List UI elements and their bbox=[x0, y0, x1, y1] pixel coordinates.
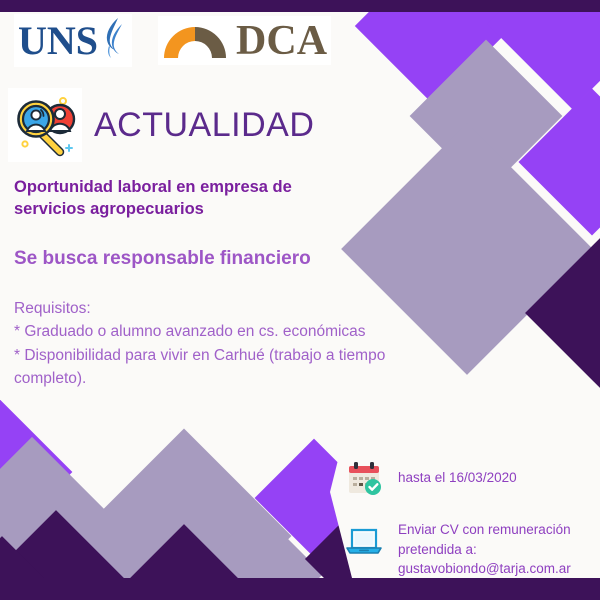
requirements-label: Requisitos: bbox=[14, 297, 444, 320]
poster-canvas: UNS DCA bbox=[0, 0, 600, 600]
decor-square-bright-2 bbox=[487, 0, 600, 109]
headline-line-1: Oportunidad laboral en empresa de bbox=[14, 178, 292, 196]
decor-square-dark-1 bbox=[525, 221, 600, 405]
requirements-block: Requisitos: * Graduado o alumno avanzado… bbox=[14, 297, 444, 390]
uns-logo-text: UNS bbox=[18, 21, 98, 61]
laptop-icon bbox=[344, 520, 384, 560]
calendar-check-icon bbox=[344, 458, 384, 498]
email-address: gustavobiondo@tarja.com.ar bbox=[398, 561, 571, 576]
decor-square-bright-1 bbox=[355, 0, 513, 105]
requirement-item: * Graduado o alumno avanzado en cs. econ… bbox=[14, 320, 444, 343]
dca-logo: DCA bbox=[158, 16, 331, 65]
flame-feather-icon bbox=[100, 16, 126, 65]
email-text: Enviar CV con remuneración pretendida a:… bbox=[398, 520, 571, 579]
top-band bbox=[0, 0, 600, 12]
email-line-2: pretendida a: bbox=[398, 542, 477, 557]
decor-square-bright-3 bbox=[518, 88, 600, 235]
headline-line-2: servicios agropecuarios bbox=[14, 200, 204, 218]
headline: Oportunidad laboral en empresa de servic… bbox=[14, 176, 444, 221]
email-line-1: Enviar CV con remuneración bbox=[398, 522, 571, 537]
magnifier-people-search-icon bbox=[8, 88, 82, 162]
dca-logo-text: DCA bbox=[236, 20, 327, 62]
deadline-row: hasta el 16/03/2020 bbox=[344, 458, 590, 498]
actualidad-header: ACTUALIDAD bbox=[8, 88, 314, 162]
job-copy: Oportunidad laboral en empresa de servic… bbox=[14, 176, 444, 390]
email-row: Enviar CV con remuneración pretendida a:… bbox=[344, 520, 590, 579]
uns-logo: UNS bbox=[14, 14, 132, 67]
bottom-band bbox=[0, 578, 600, 600]
decor-square-bright-4 bbox=[0, 396, 72, 549]
decor-square-lavender-3 bbox=[0, 437, 145, 600]
subheadline: Se busca responsable financiero bbox=[14, 247, 444, 272]
decor-square-lavender-1 bbox=[410, 40, 563, 193]
page-title: ACTUALIDAD bbox=[94, 108, 314, 142]
logo-row: UNS DCA bbox=[14, 14, 331, 67]
arch-half-donut-icon bbox=[162, 18, 228, 63]
requirement-item: * Disponibilidad para vivir en Carhué (t… bbox=[14, 344, 444, 391]
decor-square-lavender-4 bbox=[77, 429, 292, 600]
deadline-text: hasta el 16/03/2020 bbox=[398, 458, 517, 488]
